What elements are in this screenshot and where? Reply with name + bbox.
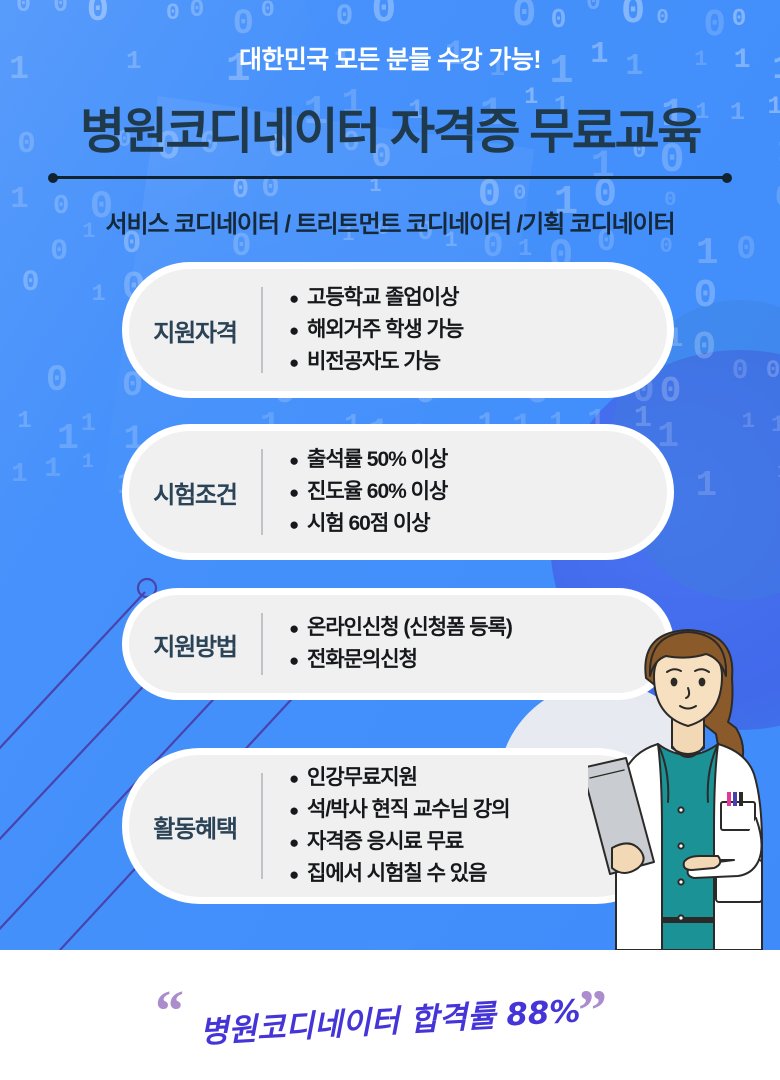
bullet-text: 진도율 60% 이상 xyxy=(307,476,657,508)
binary-digit: 0 xyxy=(736,234,756,267)
info-card-1: 지원자격●고등학교 졸업이상●해외거주 학생 가능●비전공자도 가능 xyxy=(122,262,674,398)
card-label: 지원자격 xyxy=(129,313,261,348)
card-label: 활동혜택 xyxy=(129,809,261,844)
bullet-text: 해외거주 학생 가능 xyxy=(307,314,657,346)
binary-digit: 1 xyxy=(696,236,719,274)
bullet-text: 비전공자도 가능 xyxy=(307,346,657,378)
bullet-dot-icon: ● xyxy=(289,286,307,312)
female-medical-coordinator-illustration xyxy=(588,620,780,950)
kicker-text: 대한민국 모든 분들 수강 가능! xyxy=(0,40,780,76)
page-title: 병원코디네이터 자격증 무료교육 xyxy=(0,92,780,163)
title-divider-rule xyxy=(52,176,728,179)
card-bullet-item: ●시험 60점 이상 xyxy=(289,508,657,540)
bullet-dot-icon: ● xyxy=(289,830,307,856)
bottom-arrow-pointer xyxy=(363,942,417,950)
bullet-dot-icon: ● xyxy=(289,512,307,538)
binary-digit: 0 xyxy=(512,0,536,35)
bullet-dot-icon: ● xyxy=(289,318,307,344)
bullet-dot-icon: ● xyxy=(289,648,307,674)
binary-digit: 0 xyxy=(656,8,669,29)
bullet-dot-icon: ● xyxy=(289,798,307,824)
bullet-dot-icon: ● xyxy=(289,480,307,506)
binary-digit: 0 xyxy=(336,2,354,32)
binary-digit: 0 xyxy=(621,0,645,32)
card-label: 지원방법 xyxy=(129,627,261,662)
binary-digit: 0 xyxy=(586,0,601,15)
info-card-2: 시험조건●출석률 50% 이상●진도율 60% 이상●시험 60점 이상 xyxy=(122,424,674,560)
bullet-dot-icon: ● xyxy=(289,616,307,642)
poster-root: 0101011000011001111100010110000100010100… xyxy=(0,0,780,1080)
blue-background-stage: 0101011000011001111100010110000100010100… xyxy=(0,0,780,950)
card-bullet-item: ●비전공자도 가능 xyxy=(289,346,657,378)
binary-digit: 0 xyxy=(371,0,396,32)
binary-digit: 0 xyxy=(732,8,747,32)
bullet-dot-icon: ● xyxy=(289,862,307,888)
subtitle-text: 서비스 코디네이터 / 트리트먼트 코디네이터 /기획 코디네이터 xyxy=(0,204,780,239)
card-bullet-item: ●진도율 60% 이상 xyxy=(289,476,657,508)
bullet-text: 출석률 50% 이상 xyxy=(307,444,657,476)
card-bullet-list: ●고등학교 졸업이상●해외거주 학생 가능●비전공자도 가능 xyxy=(263,282,667,378)
binary-digit: 0 xyxy=(551,7,567,33)
bullet-dot-icon: ● xyxy=(289,448,307,474)
card-bullet-item: ●고등학교 졸업이상 xyxy=(289,282,657,314)
bullet-dot-icon: ● xyxy=(289,766,307,792)
card-label: 시험조건 xyxy=(129,475,261,510)
bullet-dot-icon: ● xyxy=(289,350,307,376)
footer-handwriting-text: 병원코디네이터 합격률 88% xyxy=(0,974,780,1062)
card-bullet-list: ●출석률 50% 이상●진도율 60% 이상●시험 60점 이상 xyxy=(263,444,667,540)
bullet-text: 시험 60점 이상 xyxy=(307,508,657,540)
card-bullet-item: ●출석률 50% 이상 xyxy=(289,444,657,476)
bullet-text: 고등학교 졸업이상 xyxy=(307,282,657,314)
card-bullet-item: ●해외거주 학생 가능 xyxy=(289,314,657,346)
